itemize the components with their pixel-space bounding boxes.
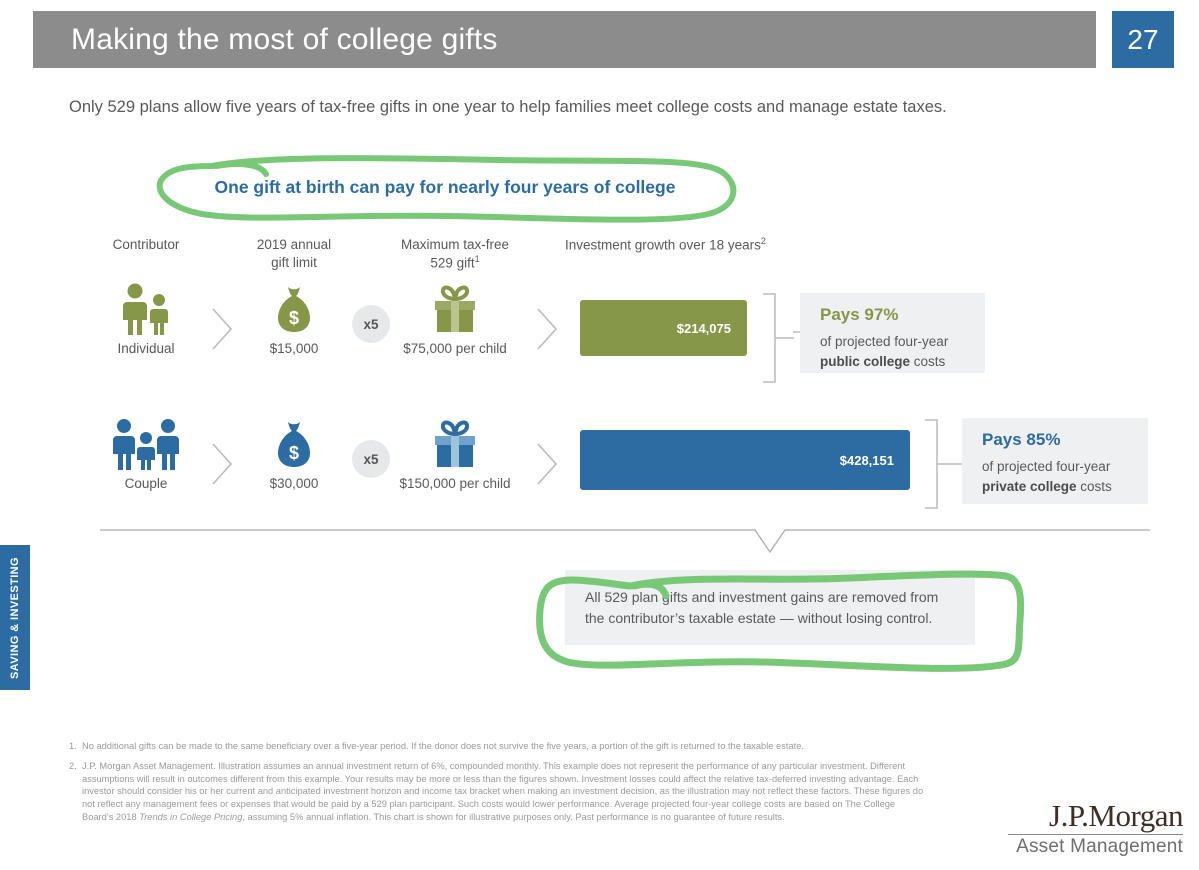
- bracket-couple: [922, 418, 956, 510]
- side-tab-label: SAVING & INVESTING: [9, 557, 21, 679]
- multiplier-label-individual: x5: [352, 305, 390, 343]
- svg-text:$: $: [289, 443, 299, 463]
- annual-limit-value-couple: $30,000: [235, 476, 353, 491]
- column-header-max-gift: Maximum tax-free 529 gift1: [390, 236, 520, 272]
- callout-couple: Pays 85% of projected four-year private …: [962, 418, 1148, 504]
- slide-root: Making the most of college gifts 27 Only…: [0, 0, 1199, 870]
- gift-box-icon-green: [390, 283, 520, 335]
- cell-contributor-individual: Individual: [92, 283, 200, 356]
- callout-tail-individual: costs: [910, 354, 945, 369]
- contributor-label-individual: Individual: [92, 341, 200, 356]
- footnote-2: 2. J.P. Morgan Asset Management. Illustr…: [69, 760, 924, 824]
- chevron-right-icon-1b: [530, 303, 562, 355]
- page-number-badge: 27: [1112, 11, 1174, 68]
- column-header-annual-limit: 2019 annual gift limit: [235, 236, 353, 271]
- max-gift-footnote-ref: 1: [475, 254, 480, 264]
- cell-max-gift-couple: $150,000 per child: [390, 418, 520, 491]
- cell-annual-limit-couple: $ $30,000: [235, 418, 353, 491]
- footnote-1-number: 1.: [69, 740, 82, 753]
- footnote-2-number: 2.: [69, 760, 82, 824]
- bar-value-couple: $428,151: [840, 453, 894, 468]
- highlight-oval-group: One gift at birth can pay for nearly fou…: [140, 152, 750, 227]
- growth-footnote-ref: 2: [761, 236, 766, 246]
- chevron-right-icon-2b: [530, 438, 562, 490]
- multiplier-badge-individual: x5: [352, 305, 392, 343]
- logo-main-text: J.P.Morgan: [1008, 800, 1183, 831]
- footnotes: 1. No additional gifts can be made to th…: [69, 740, 924, 831]
- footnote-2-text-italic: Trends in College Pricing: [139, 812, 242, 822]
- multiplier-badge-couple: x5: [352, 440, 392, 478]
- callout-sub-couple: of projected four-year private college c…: [982, 457, 1130, 496]
- callout-line1-individual: of projected four-year: [820, 334, 948, 349]
- svg-text:$: $: [289, 308, 299, 328]
- cell-annual-limit-individual: $ $15,000: [235, 283, 353, 356]
- bar-individual: $214,075: [580, 300, 747, 356]
- multiplier-label-couple: x5: [352, 440, 390, 478]
- cell-contributor-couple: Couple: [92, 418, 200, 491]
- gift-box-icon-blue: [390, 418, 520, 470]
- chevron-right-icon-1a: [205, 303, 237, 355]
- footnote-1-text: No additional gifts can be made to the s…: [82, 740, 924, 753]
- callout-tail-couple: costs: [1077, 479, 1112, 494]
- max-gift-value-couple: $150,000 per child: [390, 476, 520, 491]
- logo-sub-text: Asset Management: [1008, 837, 1183, 858]
- column-header-growth: Investment growth over 18 years2: [565, 236, 795, 254]
- growth-label: Investment growth over 18 years: [565, 238, 761, 253]
- chevron-right-icon-2a: [205, 438, 237, 490]
- callout-line1-couple: of projected four-year: [982, 459, 1110, 474]
- column-header-contributor: Contributor: [92, 236, 200, 254]
- header-bar: Making the most of college gifts: [33, 11, 1096, 68]
- annual-limit-value-individual: $15,000: [235, 341, 353, 356]
- max-gift-line1: Maximum tax-free: [401, 237, 509, 252]
- callout-sub-individual: of projected four-year public college co…: [820, 332, 967, 371]
- cell-max-gift-individual: $75,000 per child: [390, 283, 520, 356]
- footnote-2-text: J.P. Morgan Asset Management. Illustrati…: [82, 760, 924, 824]
- bar-couple: $428,151: [580, 430, 910, 490]
- annual-limit-line1: 2019 annual: [257, 237, 331, 252]
- callout-bold-couple: private college: [982, 479, 1077, 494]
- max-gift-line2: 529 gift: [430, 255, 474, 270]
- bar-value-individual: $214,075: [677, 321, 731, 336]
- money-bag-icon-blue: $: [235, 418, 353, 470]
- jpmorgan-logo: J.P.Morgan Asset Management: [1008, 800, 1183, 858]
- callout-title-couple: Pays 85%: [982, 430, 1130, 450]
- logo-rule: [1008, 834, 1183, 835]
- contributor-label-couple: Couple: [92, 476, 200, 491]
- bracket-individual: [760, 292, 794, 384]
- money-bag-icon-green: $: [235, 283, 353, 335]
- footnote-2-text-b: , assuming 5% annual inflation. This cha…: [242, 812, 784, 822]
- subhead-text: Only 529 plans allow five years of tax-f…: [69, 96, 1139, 118]
- page-title: Making the most of college gifts: [33, 23, 498, 57]
- highlight-title: One gift at birth can pay for nearly fou…: [210, 177, 680, 198]
- individual-adult-child-icon: [92, 283, 200, 335]
- side-tab-saving-investing[interactable]: SAVING & INVESTING: [0, 545, 30, 690]
- footnote-1: 1. No additional gifts can be made to th…: [69, 740, 924, 753]
- callout-bold-individual: public college: [820, 354, 910, 369]
- callout-individual: Pays 97% of projected four-year public c…: [800, 293, 985, 373]
- callout-title-individual: Pays 97%: [820, 305, 967, 325]
- max-gift-value-individual: $75,000 per child: [390, 341, 520, 356]
- couple-adults-child-icon: [92, 418, 200, 470]
- annual-limit-line2: gift limit: [271, 255, 317, 270]
- green-marker-note-icon: [520, 548, 1040, 678]
